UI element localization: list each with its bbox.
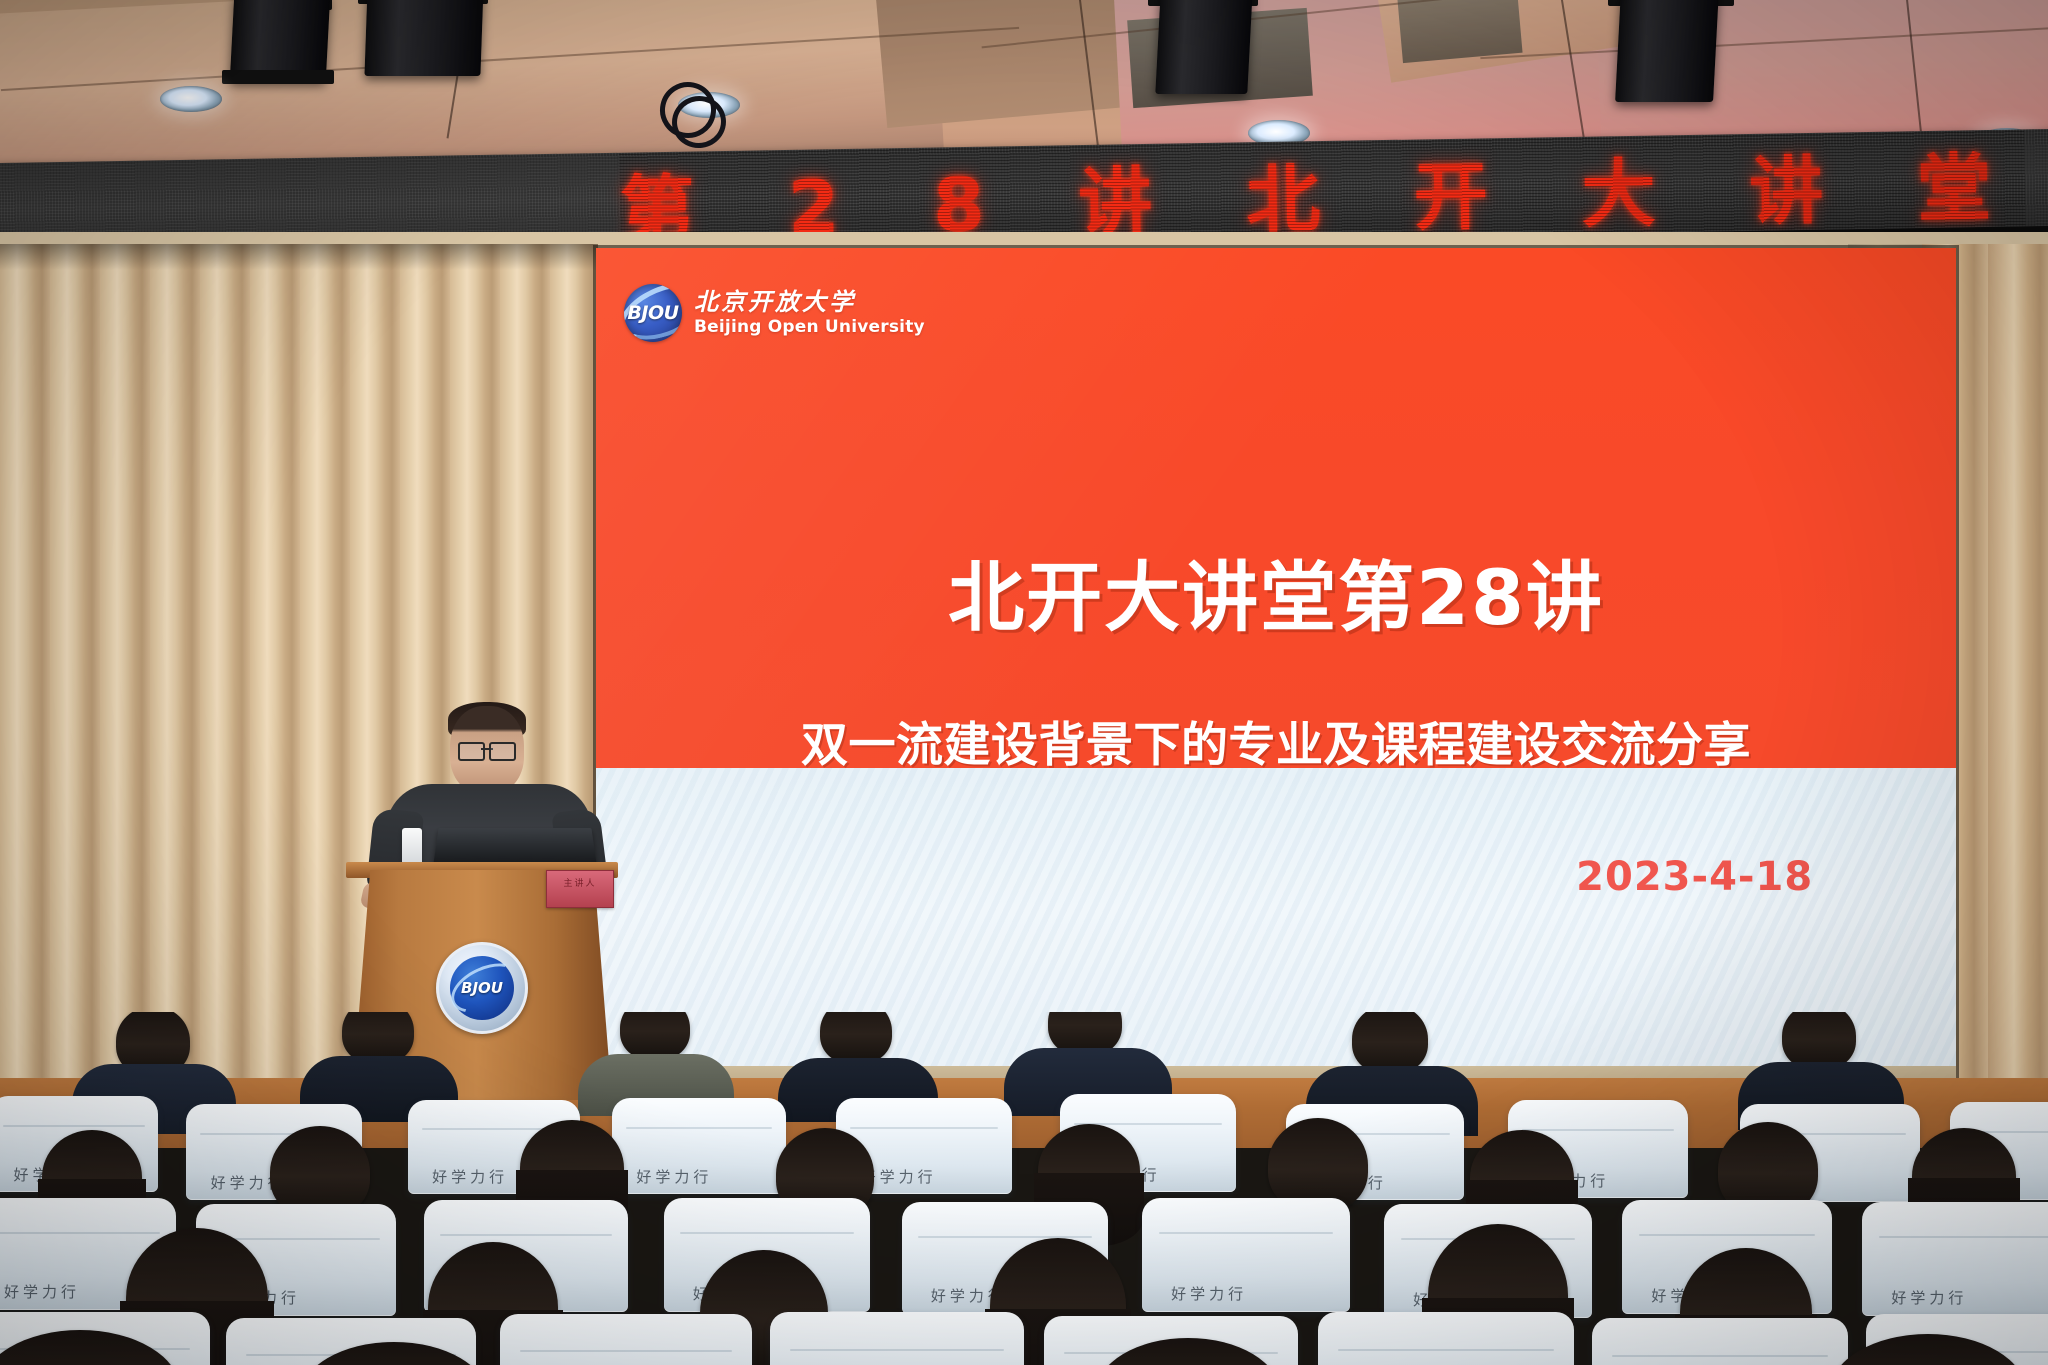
- chair[interactable]: 好学力行: [612, 1098, 786, 1194]
- ceiling-speaker: [1155, 0, 1252, 94]
- ceiling-vent-2: [1397, 0, 1522, 63]
- chair[interactable]: 好学力行: [1318, 1312, 1574, 1365]
- audience-head: [1352, 1012, 1428, 1074]
- chair-motto: 好学力行: [1171, 1283, 1247, 1304]
- glasses-icon: [458, 742, 516, 757]
- auditorium-photo: 第 2 8 讲 北 开 大 讲 堂 BJOU 北京开放大学 Beijing Op…: [0, 0, 2048, 1365]
- projection-screen: BJOU 北京开放大学 Beijing Open University 北开大讲…: [596, 248, 1956, 1084]
- slide-title: 北开大讲堂第28讲: [596, 536, 1956, 646]
- presentation-slide: BJOU 北京开放大学 Beijing Open University 北开大讲…: [596, 248, 1956, 1084]
- slide-subtitle: 双一流建设背景下的专业及课程建设交流分享: [596, 706, 1956, 775]
- audience-head: [620, 1012, 690, 1060]
- chair-motto: 好学力行: [4, 1281, 80, 1302]
- podium-laptop: [433, 828, 597, 865]
- university-logo-lockup: BJOU 北京开放大学 Beijing Open University: [624, 284, 925, 342]
- ceiling-speaker: [364, 0, 483, 76]
- chair[interactable]: 好学力行: [500, 1314, 752, 1365]
- podium-nameplate: 主讲人: [546, 870, 614, 908]
- chair[interactable]: 好学力行: [1862, 1202, 2048, 1316]
- bjou-mark-text: BJOU: [624, 284, 682, 342]
- university-name-en: Beijing Open University: [694, 318, 925, 337]
- slide-date: 2023-4-18: [1576, 854, 1813, 900]
- curtain-top-shadow: [0, 244, 598, 270]
- chair-motto: 好学力行: [1891, 1287, 1967, 1308]
- bjou-globe-icon: BJOU: [624, 284, 682, 342]
- chair[interactable]: 好学力行: [770, 1312, 1024, 1365]
- chair[interactable]: 好学力行: [1142, 1198, 1350, 1312]
- university-name-cn: 北京开放大学: [694, 289, 925, 316]
- speaker-mount-base: [222, 70, 334, 84]
- chair[interactable]: 好学力行: [1592, 1318, 1848, 1365]
- chair-motto: 好学力行: [636, 1166, 712, 1187]
- audience-head: [820, 1012, 892, 1064]
- audience-seating: 好学力行 好学力行 好学力行 好学力行 好学力行 好学力行 好学力行 好学力行: [0, 1012, 2048, 1365]
- ceiling-downlight: [160, 86, 222, 112]
- ceiling-speaker: [1615, 0, 1719, 102]
- podium-nameplate-text: 主讲人: [547, 876, 613, 889]
- chair-motto: 好学力行: [432, 1166, 508, 1187]
